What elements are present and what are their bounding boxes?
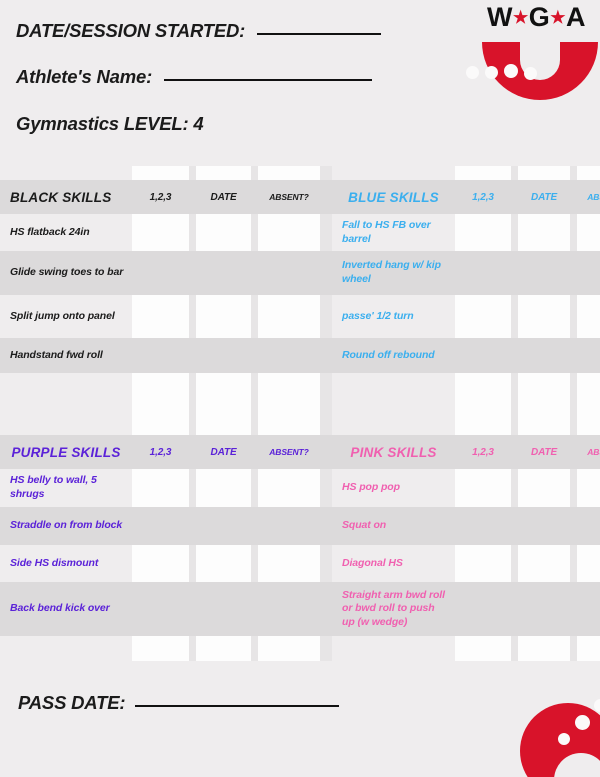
spacer-cell [577,166,600,180]
skill-label: HS flatback 24in [0,214,132,251]
col-gap [189,214,196,251]
col-gap [570,373,577,397]
skill-label: Glide swing toes to bar [0,251,132,295]
black-blue-header-row: BLACK SKILLS 1,2,3 DATE ABSENT? BLUE SKI… [0,180,600,214]
col-gap [570,507,577,545]
date-cell[interactable] [196,295,251,338]
col-gap [251,338,258,373]
absent-cell[interactable] [258,214,320,251]
col-gap [511,507,518,545]
col-gap [251,397,258,435]
col-gap [320,295,332,338]
table-block-gap [0,397,600,435]
spacer-cell [196,166,251,180]
col-gap [511,338,518,373]
col-gap [320,582,332,636]
col-gap [251,636,258,661]
col-gap [511,295,518,338]
skill-label: Straight arm bwd roll or bwd roll to pus… [332,582,455,636]
col-gap [511,545,518,582]
skill-label: Round off rebound [332,338,455,373]
spacer-cell [251,166,258,180]
blank-cell[interactable] [455,636,511,661]
blue-skills-title: BLUE SKILLS [332,180,455,214]
purple-col-date: DATE [196,435,251,469]
blank-cell[interactable] [196,373,251,397]
col-gap [320,397,332,435]
col-gap [570,338,577,373]
absent-cell[interactable] [577,582,600,636]
blue-col-date: DATE [518,180,570,214]
col-gap [251,295,258,338]
pink-col-date: DATE [518,435,570,469]
athlete-name-field: Athlete's Name: [16,66,372,88]
col-gap [511,469,518,507]
purple-col-attempts: 1,2,3 [132,435,189,469]
absent-cell[interactable] [577,545,600,582]
gap-cell [0,397,132,435]
attempts-cell[interactable] [455,507,511,545]
col-gap [320,373,332,397]
table-row: Straddle on from block Squat on [0,507,600,545]
star-icon: ★ [513,8,529,27]
corner-decoration [520,703,600,777]
col-gap [189,251,196,295]
absent-cell[interactable] [577,469,600,507]
col-gap [320,435,332,469]
skill-label: passe' 1/2 turn [332,295,455,338]
skill-label: Back bend kick over [0,582,132,636]
table-row: HS flatback 24in Fall to HS FB over barr… [0,214,600,251]
table-spacer-row [0,166,600,180]
attempts-cell[interactable] [455,469,511,507]
blank-cell[interactable] [518,373,570,397]
black-col-date: DATE [196,180,251,214]
col-gap [570,295,577,338]
spacer-cell [132,166,189,180]
col-gap [251,251,258,295]
corner-dot-icon [594,699,600,712]
skills-tables: BLACK SKILLS 1,2,3 DATE ABSENT? BLUE SKI… [0,166,600,661]
absent-cell[interactable] [577,338,600,373]
corner-dot-icon [575,715,590,730]
spacer-cell [518,166,570,180]
col-gap [511,251,518,295]
table-row: Handstand fwd roll Round off rebound [0,338,600,373]
col-gap [511,435,518,469]
col-gap [251,507,258,545]
spacer-cell [511,166,518,180]
gap-cell [196,397,251,435]
blank-cell[interactable] [518,636,570,661]
col-gap [251,180,258,214]
date-cell[interactable] [518,214,570,251]
pink-skills-title: PINK SKILLS [332,435,455,469]
spacer-cell [320,166,332,180]
col-gap [320,214,332,251]
table-row-blank [0,373,600,397]
date-session-field: DATE/SESSION STARTED: [16,20,381,42]
date-cell[interactable] [196,469,251,507]
absent-cell[interactable] [258,338,320,373]
gap-cell [332,397,455,435]
absent-cell[interactable] [258,295,320,338]
skill-label: Squat on [332,507,455,545]
col-gap [511,180,518,214]
col-gap [570,251,577,295]
gap-cell [455,397,511,435]
date-cell[interactable] [518,469,570,507]
blank-cell[interactable] [258,636,320,661]
col-gap [251,214,258,251]
gap-cell [132,397,189,435]
col-gap [570,545,577,582]
pass-date-writeline[interactable] [135,705,339,707]
skill-label: HS pop pop [332,469,455,507]
attempts-cell[interactable] [132,582,189,636]
date-cell[interactable] [518,582,570,636]
absent-cell[interactable] [258,251,320,295]
col-gap [189,397,196,435]
absent-cell[interactable] [577,251,600,295]
blank-cell[interactable] [196,636,251,661]
col-gap [189,295,196,338]
col-gap [511,582,518,636]
blank-cell[interactable] [577,636,600,661]
logo-dot-icon [524,67,537,80]
logo-bowl-shape [482,42,598,100]
skills-tracking-sheet: DATE/SESSION STARTED: Athlete's Name: Gy… [0,0,600,777]
col-gap [189,636,196,661]
date-cell[interactable] [518,545,570,582]
col-gap [251,435,258,469]
skill-label: Diagonal HS [332,545,455,582]
logo-dot-icon [485,66,498,79]
col-gap [189,469,196,507]
athlete-name-label: Athlete's Name: [16,66,152,88]
date-cell[interactable] [518,251,570,295]
table-row: Back bend kick over Straight arm bwd rol… [0,582,600,636]
date-cell[interactable] [196,214,251,251]
logo-letter-a: A [566,2,586,32]
skill-label: Handstand fwd roll [0,338,132,373]
col-gap [320,180,332,214]
col-gap [251,469,258,507]
spacer-cell [570,166,577,180]
col-gap [251,545,258,582]
col-gap [570,397,577,435]
skill-label: Fall to HS FB over barrel [332,214,455,251]
date-cell[interactable] [518,338,570,373]
blank-cell[interactable] [577,373,600,397]
spacer-cell [332,166,455,180]
col-gap [320,338,332,373]
purple-skills-title: PURPLE SKILLS [0,435,132,469]
blank-cell[interactable] [258,373,320,397]
attempts-cell[interactable] [132,545,189,582]
col-gap [320,469,332,507]
pink-col-attempts: 1,2,3 [455,435,511,469]
attempts-cell[interactable] [132,295,189,338]
col-gap [320,545,332,582]
absent-cell[interactable] [577,295,600,338]
col-gap [189,435,196,469]
col-gap [570,214,577,251]
spacer-cell [0,166,132,180]
col-gap [511,214,518,251]
gap-cell [577,397,600,435]
spacer-cell [189,166,196,180]
attempts-cell[interactable] [132,214,189,251]
wga-logo-wordmark: W★G★A [487,4,586,31]
date-session-writeline[interactable] [257,33,381,35]
table-row: Side HS dismount Diagonal HS [0,545,600,582]
logo-letter-g: G [529,2,551,32]
col-gap [189,180,196,214]
skill-label: Split jump onto panel [0,295,132,338]
col-gap [320,636,332,661]
blue-col-attempts: 1,2,3 [455,180,511,214]
date-cell[interactable] [196,582,251,636]
date-cell[interactable] [196,507,251,545]
absent-cell[interactable] [577,214,600,251]
col-gap [570,435,577,469]
blank-cell[interactable] [132,636,189,661]
col-gap [570,180,577,214]
col-gap [320,507,332,545]
black-col-absent: ABSENT? [258,180,320,214]
spacer-cell [258,166,320,180]
blank-cell[interactable] [132,373,189,397]
col-gap [511,397,518,435]
blank-cell[interactable] [455,373,511,397]
black-skills-title: BLACK SKILLS [0,180,132,214]
logo-dot-icon [504,64,518,78]
star-icon: ★ [550,8,566,27]
blank-cell [0,373,132,397]
absent-cell[interactable] [577,507,600,545]
logo-letter-w: W [487,2,513,32]
gap-cell [258,397,320,435]
skill-label: HS belly to wall, 5 shrugs [0,469,132,507]
corner-dot-icon [558,733,570,745]
blank-cell [332,636,455,661]
gap-cell [518,397,570,435]
black-col-attempts: 1,2,3 [132,180,189,214]
attempts-cell[interactable] [132,338,189,373]
purple-pink-header-row: PURPLE SKILLS 1,2,3 DATE ABSENT? PINK SK… [0,435,600,469]
pass-date-label: PASS DATE: [18,692,125,714]
col-gap [189,507,196,545]
gymnastics-level-label: Gymnastics LEVEL: 4 [16,113,203,135]
col-gap [570,636,577,661]
attempts-cell[interactable] [455,251,511,295]
col-gap [251,373,258,397]
blue-col-absent: ABSENT? [577,180,600,214]
date-cell[interactable] [196,545,251,582]
attempts-cell[interactable] [455,545,511,582]
col-gap [570,582,577,636]
table-row: Split jump onto panel passe' 1/2 turn [0,295,600,338]
date-session-label: DATE/SESSION STARTED: [16,20,245,42]
col-gap [511,373,518,397]
col-gap [570,469,577,507]
absent-cell[interactable] [258,469,320,507]
blank-cell [332,373,455,397]
pink-col-absent: ABSENT? [577,435,600,469]
attempts-cell[interactable] [132,507,189,545]
wga-logo: W★G★A [454,4,594,104]
attempts-cell[interactable] [455,338,511,373]
skill-label: Inverted hang w/ kip wheel [332,251,455,295]
absent-cell[interactable] [258,507,320,545]
date-cell[interactable] [196,251,251,295]
col-gap [251,582,258,636]
purple-col-absent: ABSENT? [258,435,320,469]
date-cell[interactable] [518,507,570,545]
attempts-cell[interactable] [132,251,189,295]
skill-label: Straddle on from block [0,507,132,545]
attempts-cell[interactable] [455,214,511,251]
absent-cell[interactable] [258,545,320,582]
athlete-name-writeline[interactable] [164,79,372,81]
date-cell[interactable] [196,338,251,373]
table-row-blank [0,636,600,661]
table-row: HS belly to wall, 5 shrugs HS pop pop [0,469,600,507]
blank-cell [0,636,132,661]
page-header: DATE/SESSION STARTED: Athlete's Name: Gy… [0,0,600,160]
col-gap [320,251,332,295]
skill-label: Side HS dismount [0,545,132,582]
gymnastics-level-field: Gymnastics LEVEL: 4 [16,113,203,135]
date-cell[interactable] [518,295,570,338]
col-gap [189,582,196,636]
pass-date-field: PASS DATE: [18,692,339,714]
attempts-cell[interactable] [455,582,511,636]
logo-dot-icon [466,66,479,79]
table-row: Glide swing toes to bar Inverted hang w/… [0,251,600,295]
attempts-cell[interactable] [455,295,511,338]
absent-cell[interactable] [258,582,320,636]
attempts-cell[interactable] [132,469,189,507]
col-gap [189,545,196,582]
spacer-cell [455,166,511,180]
col-gap [189,373,196,397]
col-gap [511,636,518,661]
col-gap [189,338,196,373]
